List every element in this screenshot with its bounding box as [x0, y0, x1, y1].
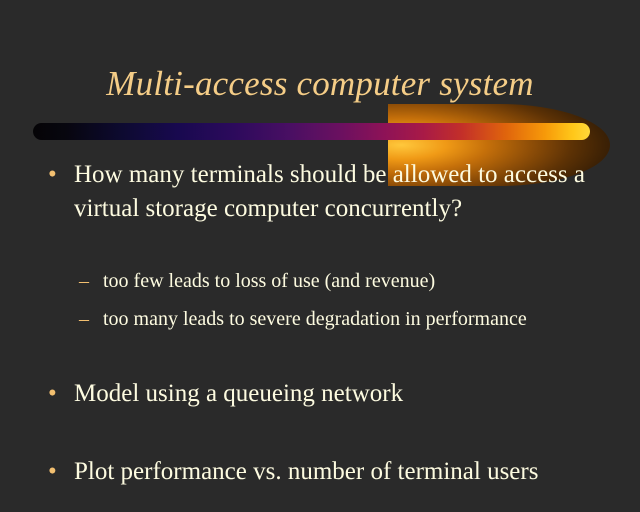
- sub-bullet-item: – too few leads to loss of use (and reve…: [0, 268, 640, 295]
- bullet-item: • Model using a queueing network: [0, 377, 640, 411]
- spacer: [0, 226, 640, 268]
- spacer: [0, 333, 640, 377]
- sub-bullet-text: too many leads to severe degradation in …: [103, 308, 527, 330]
- bullet-marker-icon: •: [48, 377, 57, 411]
- presentation-slide: Multi-access computer system • How many …: [0, 0, 640, 512]
- slide-body: • How many terminals should be allowed t…: [0, 158, 640, 489]
- gradient-divider-bar: [33, 123, 590, 140]
- bullet-text: Model using a queueing network: [74, 380, 403, 407]
- bullet-text: Plot performance vs. number of terminal …: [74, 458, 538, 485]
- spacer: [0, 411, 640, 455]
- bullet-item: • How many terminals should be allowed t…: [0, 158, 640, 226]
- dash-marker-icon: –: [79, 268, 89, 295]
- bullet-item: • Plot performance vs. number of termina…: [0, 455, 640, 489]
- dash-marker-icon: –: [79, 306, 89, 333]
- slide-title: Multi-access computer system: [0, 64, 640, 104]
- bullet-marker-icon: •: [48, 158, 57, 192]
- sub-bullet-text: too few leads to loss of use (and revenu…: [103, 270, 435, 292]
- spacer: [0, 295, 640, 306]
- sub-bullet-item: – too many leads to severe degradation i…: [0, 306, 640, 333]
- bullet-marker-icon: •: [48, 455, 57, 489]
- bullet-text: How many terminals should be allowed to …: [74, 161, 585, 222]
